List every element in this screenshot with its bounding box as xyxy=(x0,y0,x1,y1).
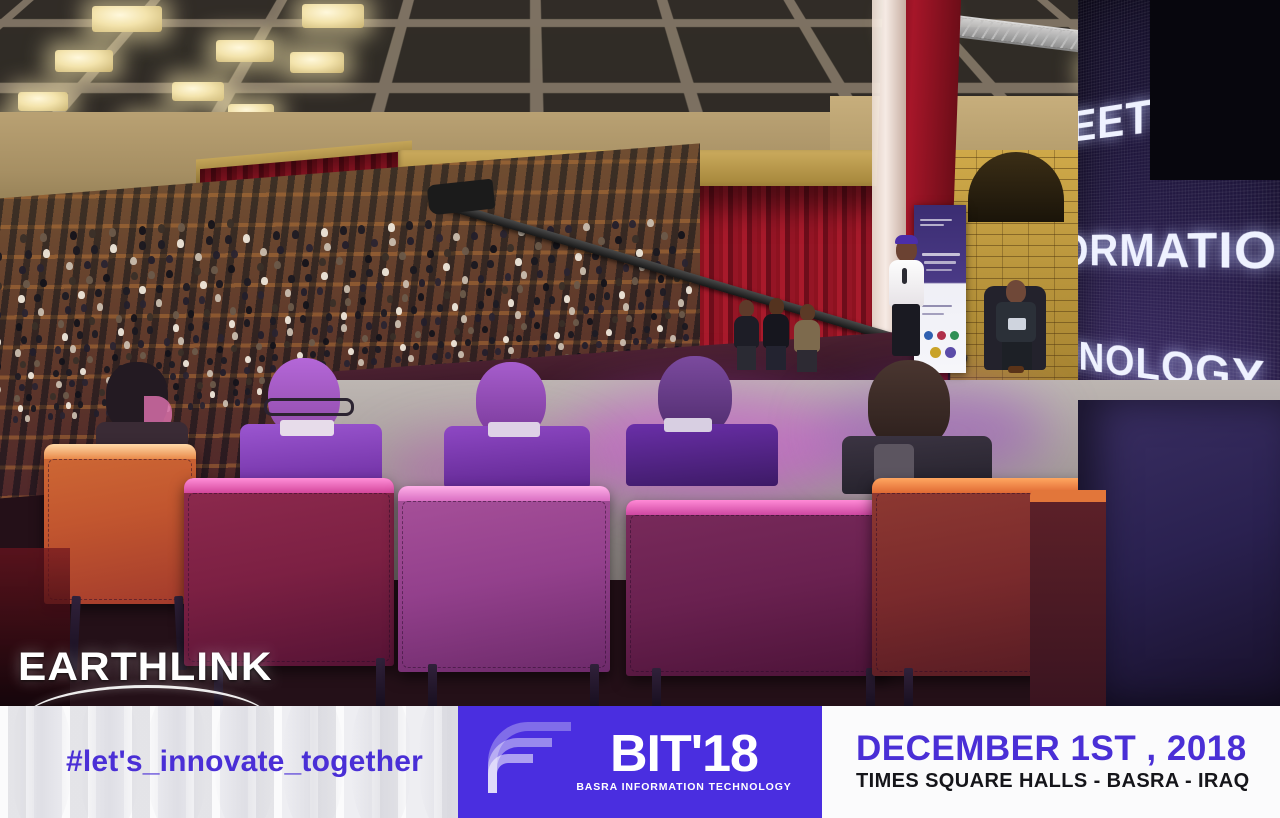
audience-head xyxy=(630,327,636,334)
audience-head xyxy=(349,270,356,278)
audience-head xyxy=(40,233,47,242)
event-venue: TIMES SQUARE HALLS - BASRA - IRAQ xyxy=(856,770,1280,793)
audience-head xyxy=(638,302,644,310)
audience-head xyxy=(645,289,651,297)
audience-head xyxy=(92,330,98,338)
audience-head xyxy=(32,322,38,330)
audience-head xyxy=(387,295,393,303)
audience-head xyxy=(508,347,514,354)
audience-head xyxy=(103,274,110,282)
audience-head xyxy=(616,278,622,286)
audience-head xyxy=(18,405,23,412)
seated-attendee-right xyxy=(988,282,1048,372)
audience-head xyxy=(18,295,25,303)
audience-head xyxy=(508,299,514,307)
audience-head xyxy=(321,272,328,280)
audience-head xyxy=(437,304,443,312)
audience-head xyxy=(192,348,198,355)
audience-head xyxy=(208,220,215,229)
audience-head xyxy=(84,344,90,352)
audience-head xyxy=(663,300,669,308)
audience-head xyxy=(211,266,218,274)
audience-head xyxy=(132,327,138,335)
audience-head xyxy=(444,291,450,299)
audience-head xyxy=(452,303,458,311)
audience-head xyxy=(97,303,103,311)
audience-head xyxy=(355,311,361,319)
audience-head xyxy=(287,328,293,336)
audience-head xyxy=(376,282,382,290)
audience-head xyxy=(188,310,194,318)
audience-head xyxy=(0,252,2,261)
audience-head xyxy=(112,354,118,361)
audience-head xyxy=(388,223,395,232)
front-row-attendee xyxy=(846,360,986,492)
audience-head xyxy=(629,220,636,228)
audience-head xyxy=(596,266,602,274)
audience-head xyxy=(25,415,30,422)
audience-head xyxy=(73,357,79,364)
audience-head xyxy=(19,266,26,274)
audience-head xyxy=(38,308,44,316)
audience-head xyxy=(257,263,264,271)
audience-head xyxy=(564,268,570,276)
audience-head xyxy=(164,338,170,346)
front-row-attendee xyxy=(246,358,376,484)
audience-head xyxy=(376,334,382,341)
audience-head xyxy=(272,304,278,312)
speaker-torso xyxy=(889,260,924,307)
audience-head xyxy=(178,337,184,345)
audience-head xyxy=(330,299,336,307)
audience-head xyxy=(454,328,460,335)
audience-head xyxy=(395,320,401,328)
audience-head xyxy=(217,346,223,353)
audience-head xyxy=(59,358,65,365)
audience-head xyxy=(633,338,639,345)
audience-head xyxy=(345,298,351,306)
front-row-attendee xyxy=(636,356,772,486)
audience-head xyxy=(0,338,1,346)
audience-head xyxy=(427,250,434,258)
audience-head xyxy=(468,327,474,334)
audience-head xyxy=(195,253,202,261)
audience-head xyxy=(475,314,481,322)
audience-head xyxy=(19,384,25,391)
audience-head xyxy=(421,318,427,326)
audience-head xyxy=(118,328,124,336)
earthlink-watermark: EARTHLINK xyxy=(18,645,278,701)
audience-head xyxy=(225,235,232,244)
audience-head xyxy=(178,223,185,232)
audience-head xyxy=(336,257,343,265)
audience-head xyxy=(658,275,664,283)
audience-head xyxy=(410,266,417,274)
audience-head xyxy=(411,306,417,314)
audience-head xyxy=(425,220,432,229)
audience-head xyxy=(0,282,2,290)
audience-head xyxy=(436,234,443,242)
audience-head xyxy=(77,331,83,339)
audience-head xyxy=(490,245,497,253)
audience-head xyxy=(101,260,108,268)
audience-head xyxy=(244,278,251,286)
audience-head xyxy=(166,270,173,278)
audience-head xyxy=(569,307,575,315)
audience-head xyxy=(50,393,56,400)
audience-head xyxy=(69,380,75,387)
audience-head xyxy=(366,269,373,277)
audience-head xyxy=(274,261,281,269)
right-dark-drape xyxy=(1078,400,1280,706)
audience-head xyxy=(0,363,1,370)
audience-head xyxy=(678,299,684,307)
audience-head xyxy=(444,249,451,257)
audience-head xyxy=(203,322,209,330)
audience-head xyxy=(95,289,102,297)
audience-head xyxy=(220,369,226,376)
audience-head xyxy=(407,237,414,245)
led-screen-dark-top xyxy=(1150,0,1280,180)
audience-head xyxy=(43,249,50,258)
audience-head xyxy=(592,330,598,337)
audience-head xyxy=(20,234,27,243)
audience-head xyxy=(462,247,469,255)
audience-head xyxy=(660,288,666,296)
audience-head xyxy=(140,352,146,359)
audience-head xyxy=(158,240,165,249)
audience-head xyxy=(626,315,632,322)
audience-head xyxy=(30,348,36,356)
audience-head xyxy=(165,350,171,357)
audience-head xyxy=(478,275,484,283)
audience-head xyxy=(89,229,96,238)
audience-head xyxy=(408,355,414,362)
audience-head xyxy=(341,324,347,332)
audience-head xyxy=(230,307,236,315)
audience-head xyxy=(487,260,494,268)
audience-head xyxy=(231,345,237,352)
audience-head xyxy=(400,344,406,351)
audience-head xyxy=(460,290,466,298)
audience-head xyxy=(73,246,80,255)
audience-head xyxy=(340,226,347,235)
audience-head xyxy=(399,252,406,260)
audience-head xyxy=(558,343,564,350)
audience-head xyxy=(486,288,492,296)
audience-head xyxy=(13,416,18,423)
audience-head xyxy=(358,225,365,234)
hashtag-text: #let's_innovate_together xyxy=(0,706,458,818)
audience-head xyxy=(285,316,291,324)
audience-head xyxy=(344,285,350,293)
audience-head xyxy=(48,413,53,420)
audience-head xyxy=(270,317,276,325)
audience-head xyxy=(559,282,565,290)
audience-head xyxy=(213,251,220,259)
audience-head xyxy=(126,353,132,360)
audience-head xyxy=(40,279,47,287)
audience-head xyxy=(342,241,349,249)
audience-head xyxy=(381,309,387,317)
stage-speaker xyxy=(884,238,928,358)
audience-head xyxy=(26,394,32,401)
audience-head xyxy=(123,287,130,295)
audience-head xyxy=(258,291,264,299)
audience-head xyxy=(62,333,68,341)
audience-head xyxy=(21,336,27,344)
audience-head xyxy=(678,231,685,239)
audience-head xyxy=(362,335,368,342)
audience-head xyxy=(56,381,62,388)
audience-head xyxy=(86,276,93,284)
audience-head xyxy=(233,389,238,396)
audience-head xyxy=(389,238,396,246)
audience-head xyxy=(270,342,276,349)
audience-head xyxy=(632,235,639,243)
audience-head xyxy=(623,303,629,311)
audience-head xyxy=(148,256,155,264)
audience-head xyxy=(606,329,612,336)
front-row-chair xyxy=(398,486,610,672)
audience-head xyxy=(63,392,69,399)
audience-head xyxy=(582,342,588,349)
audience-head xyxy=(478,301,484,309)
audience-head xyxy=(23,280,30,288)
audience-head xyxy=(381,321,387,329)
audience-head xyxy=(670,335,676,342)
event-photo: MEETUP INFORMATION TECHNOLOGY xyxy=(0,0,1280,706)
audience-head xyxy=(74,319,80,327)
audience-head xyxy=(194,267,201,275)
audience-head xyxy=(139,286,146,294)
audience-head xyxy=(58,320,64,328)
audience-head xyxy=(319,258,326,266)
audience-head xyxy=(324,243,331,251)
audience-head xyxy=(515,311,521,319)
audience-head xyxy=(292,230,299,239)
audience-head xyxy=(109,228,116,237)
audience-head xyxy=(505,273,511,281)
audience-head xyxy=(564,295,570,303)
audience-head xyxy=(348,348,354,355)
audience-head xyxy=(321,228,328,237)
audience-head xyxy=(395,356,401,363)
audience-head xyxy=(612,316,618,323)
audience-head xyxy=(679,311,685,318)
audience-head xyxy=(197,382,203,389)
audience-head xyxy=(37,264,44,272)
audience-head xyxy=(147,326,153,334)
audience-head xyxy=(615,236,622,244)
audience-head xyxy=(682,259,688,267)
audience-head xyxy=(223,400,228,407)
audience-head xyxy=(273,231,280,240)
chair-leg xyxy=(376,658,385,706)
audience-head xyxy=(489,313,495,321)
audience-head xyxy=(130,257,137,265)
audience-head xyxy=(686,286,692,294)
audience-head xyxy=(535,242,542,250)
audience-head xyxy=(229,320,235,328)
audience-head xyxy=(25,250,32,259)
audience-head xyxy=(158,224,165,233)
audience-head xyxy=(406,221,413,230)
audience-head xyxy=(227,219,234,228)
audience-head xyxy=(218,334,224,342)
audience-head xyxy=(312,327,318,335)
audience-head xyxy=(435,317,441,325)
audience-head xyxy=(382,268,389,276)
audience-head xyxy=(301,288,307,296)
audience-head xyxy=(139,226,146,235)
audience-head xyxy=(583,306,589,314)
chair-leg xyxy=(590,664,599,706)
audience-head xyxy=(418,293,424,301)
audience-head xyxy=(16,323,22,331)
audience-head xyxy=(177,239,184,248)
audience-head xyxy=(531,257,538,265)
audience-head xyxy=(341,312,347,320)
audience-head xyxy=(461,315,467,323)
audience-head xyxy=(493,300,499,308)
audience-head xyxy=(532,345,538,352)
bit18-logo-panel: BIT'18 BASRA INFORMATION TECHNOLOGY xyxy=(458,706,822,818)
audience-head xyxy=(515,258,522,266)
audience-head xyxy=(70,345,76,353)
audience-head xyxy=(438,341,444,348)
audience-head xyxy=(55,346,61,354)
audience-head xyxy=(623,264,629,272)
audience-head xyxy=(554,332,560,339)
chair-leg xyxy=(428,664,437,706)
audience-head xyxy=(500,230,507,238)
led-line-2: INFORMATION xyxy=(1078,219,1280,283)
audience-head xyxy=(429,330,435,337)
audience-head xyxy=(537,270,543,278)
audience-head xyxy=(70,231,77,240)
audience-head xyxy=(15,349,21,357)
audience-head xyxy=(544,309,550,317)
audience-head xyxy=(200,402,205,409)
audience-head xyxy=(360,297,366,305)
audience-head xyxy=(235,399,240,406)
audience-head xyxy=(200,281,207,289)
audience-head xyxy=(653,248,660,256)
audience-head xyxy=(580,267,586,275)
audience-head xyxy=(327,325,333,333)
audience-head xyxy=(366,322,372,330)
audience-head xyxy=(207,370,213,377)
audience-head xyxy=(632,277,638,285)
audience-head xyxy=(375,346,381,353)
audience-head xyxy=(66,369,72,376)
audience-head xyxy=(517,285,523,293)
audience-head xyxy=(541,333,547,340)
audience-head xyxy=(156,285,163,293)
front-row-chair xyxy=(184,478,394,666)
audience-head xyxy=(178,349,184,356)
audience-head xyxy=(661,232,668,240)
audience-head xyxy=(435,278,441,286)
audience-head xyxy=(507,324,513,331)
audience-head xyxy=(78,401,83,408)
audience-head xyxy=(644,326,650,333)
audience-head xyxy=(453,233,460,241)
audience-head xyxy=(565,225,572,233)
audience-head xyxy=(403,280,409,288)
audience-head xyxy=(598,305,604,313)
audience-head xyxy=(110,244,117,253)
audience-head xyxy=(302,259,309,267)
audience-head xyxy=(221,357,227,364)
audience-head xyxy=(183,283,190,291)
audience-head xyxy=(636,249,643,257)
audience-head xyxy=(284,341,290,348)
earthlink-wordmark: EARTHLINK xyxy=(18,645,294,690)
audience-head xyxy=(231,250,238,258)
audience-head xyxy=(543,283,549,291)
audience-head xyxy=(300,315,306,323)
audience-head xyxy=(575,253,582,261)
audience-head xyxy=(619,291,625,299)
audience-head xyxy=(34,360,40,367)
audience-head xyxy=(419,279,425,287)
audience-head xyxy=(81,304,87,312)
audience-head xyxy=(244,319,250,327)
audience-head xyxy=(148,271,155,279)
screenshot-root: MEETUP INFORMATION TECHNOLOGY xyxy=(0,0,1280,818)
audience-head xyxy=(482,349,488,356)
right-chair-edge xyxy=(1030,490,1106,706)
audience-head xyxy=(0,386,1,393)
audience-head xyxy=(139,241,146,250)
audience-head xyxy=(317,287,323,295)
audience-head xyxy=(54,403,59,410)
audience-head xyxy=(261,277,268,285)
audience-head xyxy=(210,391,215,398)
audience-head xyxy=(462,276,468,284)
audience-head xyxy=(601,279,607,287)
audience-head xyxy=(573,319,579,326)
audience-head xyxy=(306,244,313,252)
audience-head xyxy=(197,392,202,399)
audience-head xyxy=(0,311,1,319)
audience-head xyxy=(166,255,173,263)
audience-head xyxy=(15,373,21,380)
audience-head xyxy=(91,245,98,254)
audience-head xyxy=(277,246,284,254)
audience-head xyxy=(521,323,527,330)
front-row-chair xyxy=(626,500,888,676)
audience-head xyxy=(426,265,433,273)
audience-head xyxy=(80,368,86,375)
audience-head xyxy=(482,326,488,333)
audience-head xyxy=(34,294,41,302)
audience-head xyxy=(646,337,652,344)
audience-head xyxy=(183,297,189,305)
audience-head xyxy=(548,255,555,263)
audience-head xyxy=(471,261,478,269)
audience-head xyxy=(365,255,372,263)
audience-head xyxy=(589,293,595,301)
audience-head xyxy=(612,221,619,229)
audience-head xyxy=(60,412,65,419)
audience-head xyxy=(529,310,535,318)
audience-head xyxy=(451,340,457,347)
audience-head xyxy=(402,294,408,302)
audience-head xyxy=(651,313,657,320)
